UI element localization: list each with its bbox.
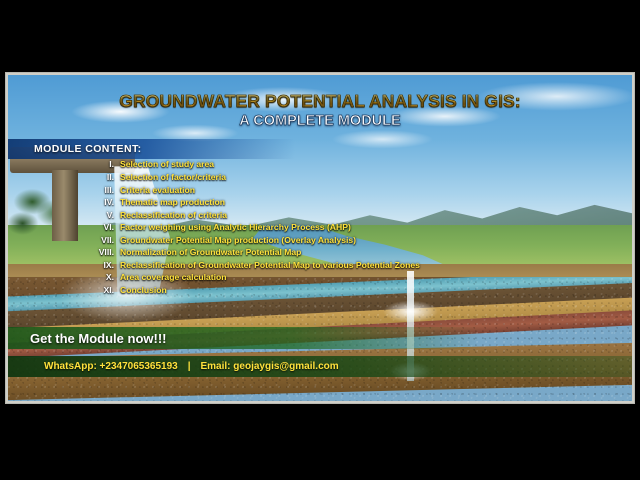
list-item-label: Criteria evaluation bbox=[120, 186, 195, 195]
email-contact: Email: geojaygis@gmail.com bbox=[201, 361, 339, 372]
list-item: III. Criteria evaluation bbox=[8, 186, 632, 199]
list-item-label: Selection of factor/criteria bbox=[120, 173, 226, 182]
poster-frame: GROUNDWATER POTENTIAL ANALYSIS IN GIS: A… bbox=[6, 73, 634, 403]
list-item-numeral: III. bbox=[8, 186, 114, 195]
poster-title: GROUNDWATER POTENTIAL ANALYSIS IN GIS: bbox=[8, 91, 632, 112]
module-content-heading: MODULE CONTENT: bbox=[34, 143, 142, 155]
list-item-numeral: X. bbox=[8, 273, 114, 282]
list-item-label: Thematic map production bbox=[120, 198, 225, 207]
whatsapp-contact: WhatsApp: +2347065365193 bbox=[44, 361, 178, 372]
list-item: IX. Reclassification of Groundwater Pote… bbox=[8, 261, 632, 274]
list-item: II. Selection of factor/criteria bbox=[8, 173, 632, 186]
list-item: IV. Thematic map production bbox=[8, 198, 632, 211]
list-item-numeral: VI. bbox=[8, 223, 114, 232]
list-item: XI. Conclusion bbox=[8, 286, 632, 299]
list-item-label: Area coverage calculation bbox=[120, 273, 227, 282]
cta-banner: Get the Module now!!! bbox=[8, 327, 482, 349]
poster-image: GROUNDWATER POTENTIAL ANALYSIS IN GIS: A… bbox=[8, 75, 632, 401]
list-item-label: Factor weighing using Analytic Hierarchy… bbox=[120, 223, 351, 232]
list-item-label: Conclusion bbox=[120, 286, 167, 295]
list-item-label: Groundwater Potential Map production (Ov… bbox=[120, 236, 356, 245]
list-item: VI. Factor weighing using Analytic Hiera… bbox=[8, 223, 632, 236]
list-item-label: Reclassification of criteria bbox=[120, 211, 227, 220]
list-item-numeral: IV. bbox=[8, 198, 114, 207]
list-item-numeral: II. bbox=[8, 173, 114, 182]
list-item-numeral: VIII. bbox=[8, 248, 114, 257]
module-content-list: I. Selection of study area II. Selection… bbox=[8, 160, 632, 298]
list-item: X. Area coverage calculation bbox=[8, 273, 632, 286]
list-item: I. Selection of study area bbox=[8, 160, 632, 173]
list-item-numeral: IX. bbox=[8, 261, 114, 270]
module-content-banner: MODULE CONTENT: bbox=[8, 139, 295, 160]
list-item: VIII. Normalization of Groundwater Poten… bbox=[8, 248, 632, 261]
contact-banner: WhatsApp: +2347065365193 | Email: geojay… bbox=[8, 356, 632, 377]
poster-subtitle: A COMPLETE MODULE bbox=[8, 113, 632, 129]
list-item-numeral: VII. bbox=[8, 236, 114, 245]
list-item-label: Normalization of Groundwater Potential M… bbox=[120, 248, 301, 257]
list-item-label: Selection of study area bbox=[120, 160, 214, 169]
screenshot-root: GROUNDWATER POTENTIAL ANALYSIS IN GIS: A… bbox=[0, 0, 640, 480]
list-item-numeral: V. bbox=[8, 211, 114, 220]
contact-separator: | bbox=[188, 361, 191, 372]
list-item-label: Reclassification of Groundwater Potentia… bbox=[120, 261, 420, 270]
list-item-numeral: XI. bbox=[8, 286, 114, 295]
poster-title-block: GROUNDWATER POTENTIAL ANALYSIS IN GIS: A… bbox=[8, 91, 632, 129]
water-sparkle-upper bbox=[382, 300, 438, 323]
list-item-numeral: I. bbox=[8, 160, 114, 169]
cta-label: Get the Module now!!! bbox=[30, 331, 166, 346]
